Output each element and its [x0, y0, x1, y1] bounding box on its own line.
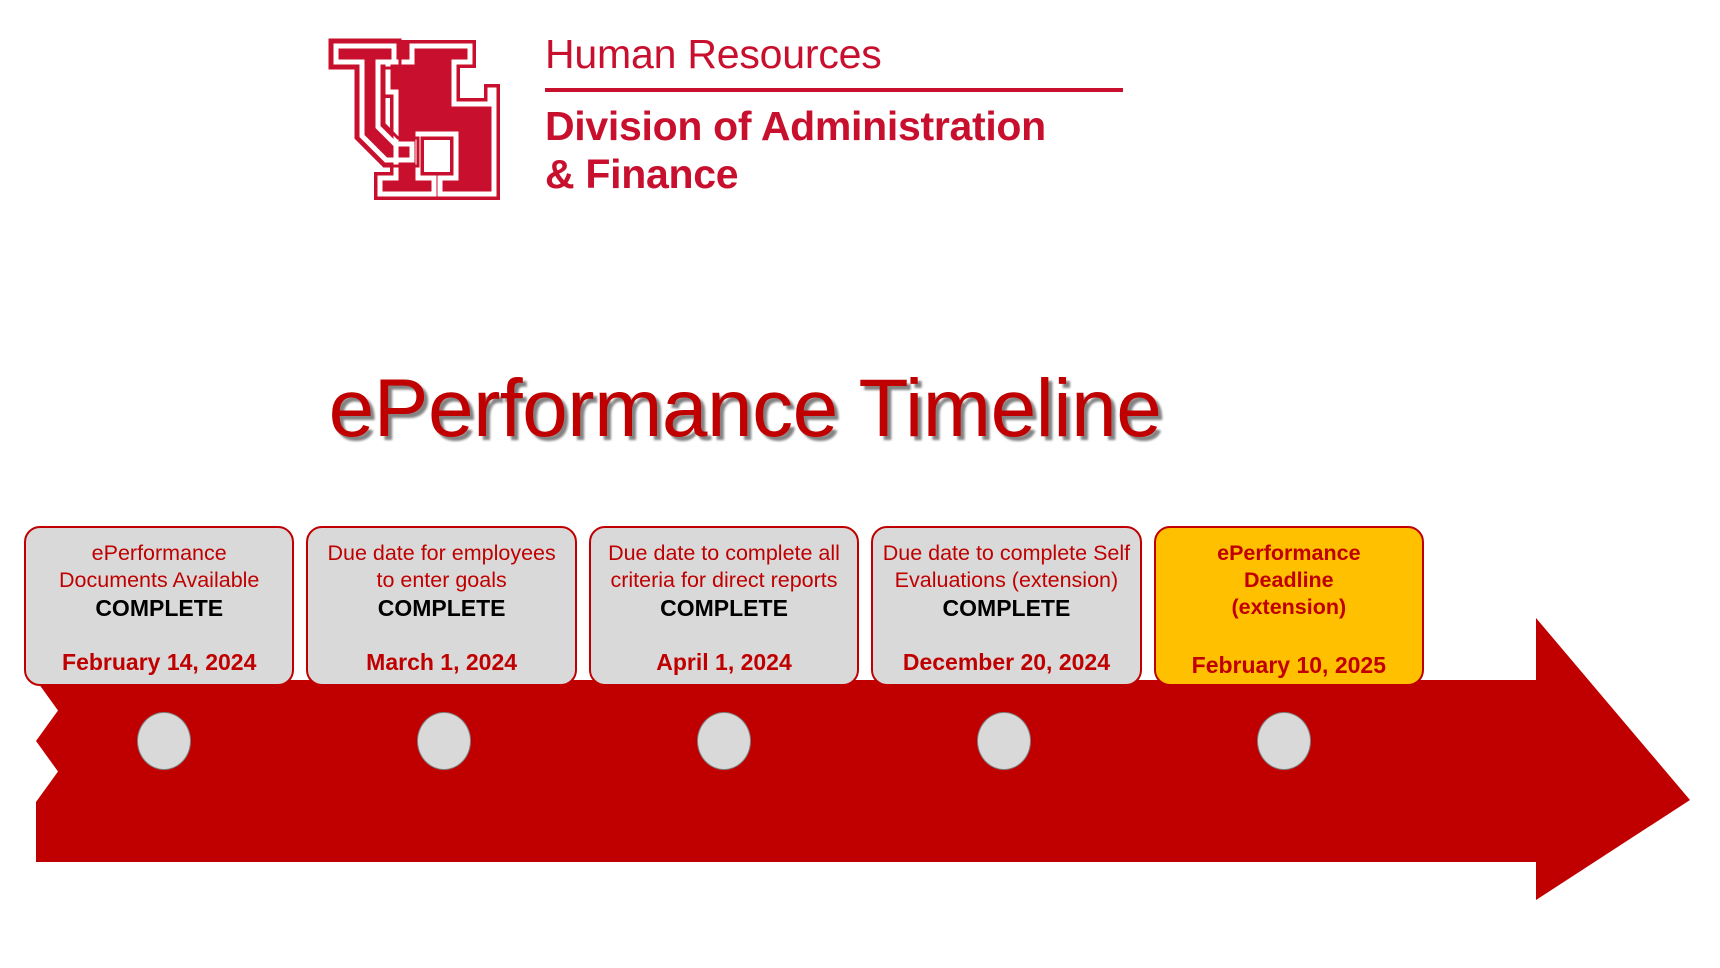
milestone-marker-cell-4: [864, 712, 1144, 770]
brand-divider-rule: [545, 88, 1123, 92]
milestone-4-desc-line1: Due date to complete Self: [883, 540, 1130, 567]
milestone-marker-cell-3: [584, 712, 864, 770]
milestone-4-description: Due date to complete Self Evaluations (e…: [883, 540, 1130, 594]
milestone-box-4[interactable]: Due date to complete Self Evaluations (e…: [871, 526, 1141, 686]
milestone-4-desc-line2: Evaluations (extension): [883, 567, 1130, 594]
milestone-5-desc-line3: (extension): [1217, 594, 1360, 621]
milestone-2-description: Due date for employees to enter goals: [327, 540, 555, 594]
milestone-2-desc-line2: to enter goals: [327, 567, 555, 594]
milestone-marker-dot-2: [417, 712, 471, 770]
milestone-2-date: March 1, 2024: [308, 650, 574, 675]
milestone-4-status: COMPLETE: [943, 595, 1071, 623]
milestone-box-list: ePerformance Documents Available COMPLET…: [24, 526, 1424, 686]
milestone-3-desc-line2: criteria for direct reports: [608, 567, 840, 594]
milestone-marker-dot-4: [977, 712, 1031, 770]
milestone-box-3[interactable]: Due date to complete all criteria for di…: [589, 526, 859, 686]
milestone-5-description: ePerformance Deadline (extension): [1217, 540, 1360, 621]
milestone-marker-cell-5: [1144, 712, 1424, 770]
milestone-1-date: February 14, 2024: [26, 650, 292, 675]
milestone-marker-list: [24, 706, 1424, 776]
milestone-marker-cell-2: [304, 712, 584, 770]
eperformance-timeline: ePerformance Documents Available COMPLET…: [0, 500, 1720, 900]
milestone-box-5[interactable]: ePerformance Deadline (extension) Februa…: [1154, 526, 1424, 686]
milestone-4-date: December 20, 2024: [873, 650, 1139, 675]
brand-line-division: Division of Administration & Finance: [545, 103, 1152, 198]
milestone-marker-dot-1: [137, 712, 191, 770]
milestone-marker-dot-3: [697, 712, 751, 770]
milestone-marker-cell-1: [24, 712, 304, 770]
brand-header: Human Resources Division of Administrati…: [322, 28, 1152, 218]
brand-line-division-a: Division of Administration: [545, 103, 1152, 151]
milestone-1-desc-line2: Documents Available: [59, 567, 259, 594]
milestone-5-date: February 10, 2025: [1156, 653, 1422, 678]
milestone-marker-dot-5: [1257, 712, 1311, 770]
page-title: ePerformance Timeline: [0, 368, 1490, 450]
milestone-3-status: COMPLETE: [660, 595, 788, 623]
milestone-2-status: COMPLETE: [378, 595, 506, 623]
milestone-2-desc-line1: Due date for employees: [327, 540, 555, 567]
milestone-1-status: COMPLETE: [95, 595, 223, 623]
milestone-5-desc-line2: Deadline: [1217, 567, 1360, 594]
brand-line-division-b: & Finance: [545, 151, 1152, 199]
milestone-box-2[interactable]: Due date for employees to enter goals CO…: [306, 526, 576, 686]
uh-interlocking-logo-icon: [322, 28, 507, 213]
milestone-3-desc-line1: Due date to complete all: [608, 540, 840, 567]
milestone-box-1[interactable]: ePerformance Documents Available COMPLET…: [24, 526, 294, 686]
milestone-1-desc-line1: ePerformance: [59, 540, 259, 567]
milestone-3-description: Due date to complete all criteria for di…: [608, 540, 840, 594]
brand-wordmark: Human Resources Division of Administrati…: [545, 28, 1152, 198]
brand-line-human-resources: Human Resources: [545, 34, 1152, 75]
milestone-3-date: April 1, 2024: [591, 650, 857, 675]
milestone-5-desc-line1: ePerformance: [1217, 540, 1360, 567]
milestone-1-description: ePerformance Documents Available: [59, 540, 259, 594]
